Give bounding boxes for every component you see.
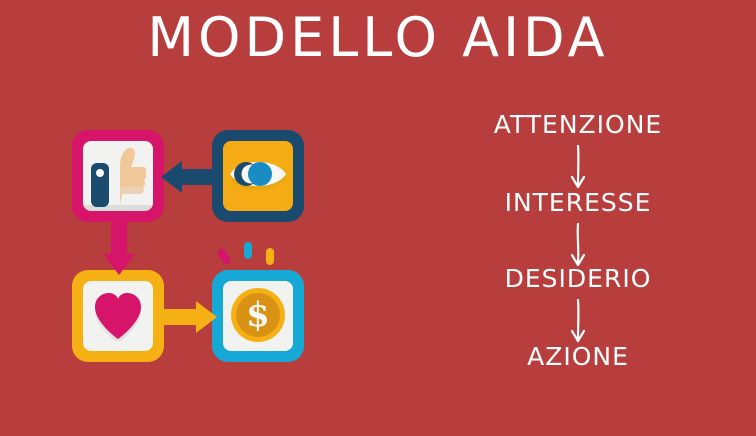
card-desire-panel <box>83 281 153 351</box>
arrow-thumb-to-heart-icon <box>102 218 136 276</box>
funnel-step-attenzione: ATTENZIONE <box>430 110 726 139</box>
arrow-eye-to-thumb-icon <box>160 160 218 194</box>
funnel-step-azione: AZIONE <box>430 342 726 371</box>
thumbs-up-cuff-dot <box>96 169 104 177</box>
slide-canvas: MODELLO AIDA <box>0 0 756 436</box>
page-title: MODELLO AIDA <box>0 6 756 71</box>
funnel-arrow-1-icon <box>563 144 593 190</box>
funnel-arrow-3-icon <box>563 298 593 344</box>
dollar-coin-icon: $ <box>231 288 285 342</box>
heart-icon <box>92 291 144 341</box>
funnel-step-desiderio: DESIDERIO <box>430 264 726 293</box>
sparkle-cyan <box>244 242 252 259</box>
card-interest-panel <box>83 141 153 211</box>
card-attention[interactable] <box>212 130 304 222</box>
card-attention-panel <box>223 141 293 211</box>
card-action[interactable]: $ <box>212 270 304 362</box>
eye-icon <box>228 155 288 193</box>
funnel-step-interesse: INTERESSE <box>430 188 726 217</box>
sparkle-yellow <box>266 248 274 265</box>
sparkle-crimson <box>216 247 232 266</box>
aida-funnel-list: ATTENZIONE INTERESSE DESIDERIO AZIONE <box>430 104 726 364</box>
coin-dollar-symbol: $ <box>231 288 285 342</box>
funnel-arrow-2-icon <box>563 222 593 268</box>
thumbs-up-hand <box>110 147 147 205</box>
arrow-heart-to-coin-icon <box>160 300 218 334</box>
thumbs-up-icon <box>91 147 147 207</box>
card-action-panel: $ <box>223 281 293 351</box>
card-desire[interactable] <box>72 270 164 362</box>
aida-icon-diagram: $ <box>72 130 322 362</box>
card-interest[interactable] <box>72 130 164 222</box>
